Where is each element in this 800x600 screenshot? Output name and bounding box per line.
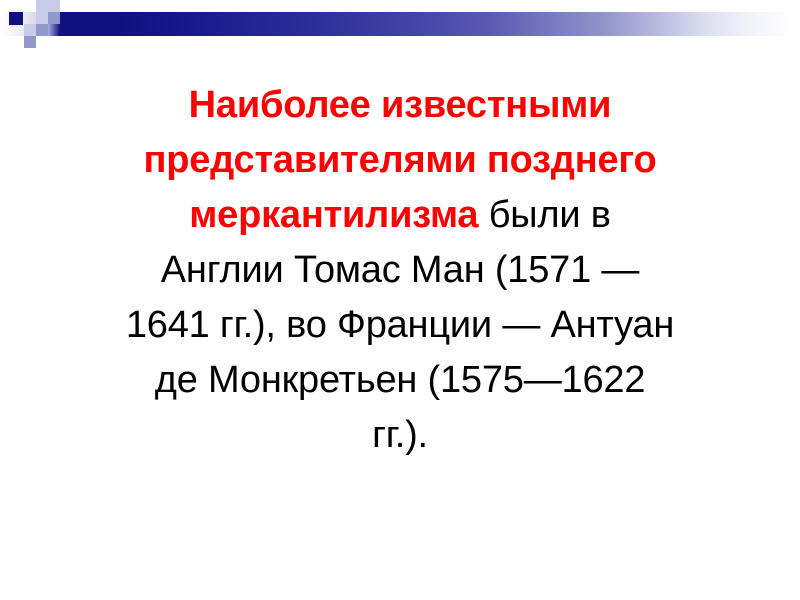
header-tile — [9, 12, 23, 25]
header-tile — [36, 12, 48, 24]
slide-header-decoration — [0, 0, 800, 60]
header-tile — [36, 0, 48, 12]
text-line-4-plain: Англии Томас Ман (1571 — — [161, 249, 639, 291]
text-line-7: гг.). — [0, 408, 800, 463]
slide-body-text: Наиболее известными представителями позд… — [0, 78, 800, 463]
text-line-1-emphasis: Наиболее известными — [189, 84, 612, 126]
text-line-6-plain: де Монкретьен (1575—1622 — [155, 359, 646, 401]
text-line-3: меркантилизма были в — [0, 188, 800, 243]
text-line-4: Англии Томас Ман (1571 — — [0, 243, 800, 298]
text-line-7-plain: гг.). — [372, 414, 428, 456]
text-line-5-plain: 1641 гг.), во Франции — Антуан — [126, 304, 674, 346]
header-tile — [48, 12, 60, 24]
text-line-3-plain: были в — [478, 194, 610, 236]
text-line-3-emphasis: меркантилизма — [189, 194, 478, 236]
text-line-2-emphasis: представителями позднего — [143, 139, 656, 181]
text-line-2: представителями позднего — [0, 133, 800, 188]
text-line-6: де Монкретьен (1575—1622 — [0, 353, 800, 408]
header-gradient-bar — [0, 12, 800, 36]
text-line-5: 1641 гг.), во Франции — Антуан — [0, 298, 800, 353]
header-tile — [24, 36, 36, 48]
header-tile — [36, 24, 48, 36]
text-line-1: Наиболее известными — [0, 78, 800, 133]
header-tile — [48, 0, 60, 12]
header-tile — [24, 24, 36, 36]
